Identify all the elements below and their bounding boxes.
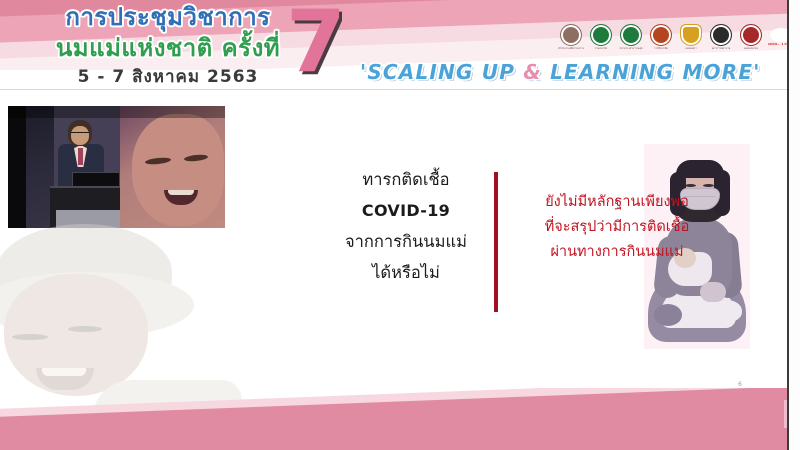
- baby-eye-right: [68, 326, 102, 332]
- slide-page-number: 6: [738, 381, 742, 388]
- royal-college-logo-caption: แพทยสภา: [685, 47, 696, 50]
- mother-eye-right: [703, 184, 714, 187]
- ministry-public-health-logo-caption: กรมอนามัย: [595, 47, 608, 50]
- slide-question-text: ทารกติดเชื้อCOVID-19จากการกินนมแม่ได้หรื…: [326, 164, 486, 288]
- thai-pediatric-logo: ราชวิทยาลัย: [648, 22, 674, 52]
- question-line-2: COVID-19: [326, 195, 486, 226]
- baby-eye-left: [12, 334, 48, 340]
- slide-frame-right-border: [787, 0, 800, 450]
- royal-emblem-logo-mark: [560, 24, 582, 46]
- mother-foot-left: [654, 304, 682, 326]
- nursing-council-logo-caption: สภาการพยาบาล: [712, 47, 731, 50]
- medical-association-logo-caption: แพทยสมาคม: [744, 47, 759, 50]
- nursing-council-logo: สภาการพยาบาล: [708, 22, 734, 52]
- conference-header-banner: การประชุมวิชาการ นมแม่แห่งชาติ ครั้งที่ …: [0, 0, 788, 98]
- baby-teeth: [42, 368, 86, 376]
- speaker-tie: [78, 148, 83, 165]
- presentation-slide: ทารกติดเชื้อCOVID-19จากการกินนมแม่ได้หรื…: [0, 98, 788, 396]
- question-line-4: ได้หรือไม่: [326, 257, 486, 288]
- video-dark-edge: [8, 106, 26, 228]
- conference-title-line1: การประชุมวิชาการ: [18, 2, 318, 32]
- nursing-council-logo-mark: [710, 24, 732, 46]
- slide-screenshot: การประชุมวิชาการ นมแม่แห่งชาติ ครั้งที่ …: [0, 0, 800, 450]
- medical-association-logo: แพทยสมาคม: [738, 22, 764, 52]
- conference-title-block: การประชุมวิชาการ นมแม่แห่งชาติ ครั้งที่ …: [18, 2, 318, 88]
- red-vertical-divider: [494, 172, 498, 312]
- ministry-public-health-logo-mark: [590, 24, 612, 46]
- royal-emblem-logo: สำนักงานปลัดกระทรวง: [558, 22, 584, 52]
- video-baby-face: [132, 114, 224, 226]
- slide-answer-text: ยังไม่มีหลักฐานเพียงพอที่จะสรุปว่ามีการต…: [504, 190, 730, 265]
- footer-band-flat: [0, 436, 800, 450]
- conference-speaker-video-thumbnail[interactable]: [8, 106, 225, 228]
- tagline-part2: LEARNING MORE': [542, 60, 761, 84]
- thai-health-sso-logo-mark: [770, 28, 788, 42]
- question-line-1: ทารกติดเชื้อ: [326, 164, 486, 195]
- tagline-part1: 'SCALING UP: [360, 60, 523, 84]
- question-line-3: จากการกินนมแม่: [326, 226, 486, 257]
- department-health-logo-mark: [620, 24, 642, 46]
- ministry-public-health-logo: กรมอนามัย: [588, 22, 614, 52]
- mother-eye-left: [685, 184, 696, 187]
- conference-edition-numeral: 7: [286, 0, 346, 90]
- thai-pediatric-logo-caption: ราชวิทยาลัย: [654, 47, 668, 50]
- thai-health-sso-logo: สสส. Thai Health: [768, 22, 788, 52]
- conference-date: 5 - 7 สิงหาคม 2563: [18, 66, 318, 88]
- answer-line-2: ที่จะสรุปว่ามีการติดเชื้อ: [504, 215, 730, 240]
- answer-line-1: ยังไม่มีหลักฐานเพียงพอ: [504, 190, 730, 215]
- partner-logo-row: สำนักงานปลัดกระทรวงกรมอนามัยกระทรวงสาธาร…: [558, 18, 788, 56]
- video-top-shadow: [8, 106, 225, 118]
- mother-foot-right: [712, 300, 742, 322]
- royal-college-logo: แพทยสภา: [678, 22, 704, 52]
- video-baby-teeth: [168, 190, 194, 195]
- mother-hand: [700, 282, 726, 302]
- department-health-logo: กระทรวงสาธารณสุข: [618, 22, 644, 52]
- speaker-glasses-icon: [71, 132, 89, 136]
- royal-college-logo-mark: [680, 24, 702, 46]
- conference-title-line2: นมแม่แห่งชาติ ครั้งที่: [18, 33, 318, 63]
- smiling-baby-with-hat-photo: [0, 220, 244, 405]
- answer-line-3: ผ่านทางการกินนมแม่: [504, 240, 730, 265]
- medical-association-logo-mark: [740, 24, 762, 46]
- royal-emblem-logo-caption: สำนักงานปลัดกระทรวง: [558, 47, 584, 50]
- conference-tagline: 'SCALING UP & LEARNING MORE': [360, 60, 761, 84]
- tagline-ampersand: &: [523, 60, 542, 84]
- header-divider-rule: [0, 89, 788, 90]
- thai-health-sso-logo-caption: สสส. Thai Health: [768, 43, 788, 46]
- footer-pink-band: [0, 388, 800, 450]
- department-health-logo-caption: กระทรวงสาธารณสุข: [619, 47, 642, 50]
- thai-pediatric-logo-mark: [650, 24, 672, 46]
